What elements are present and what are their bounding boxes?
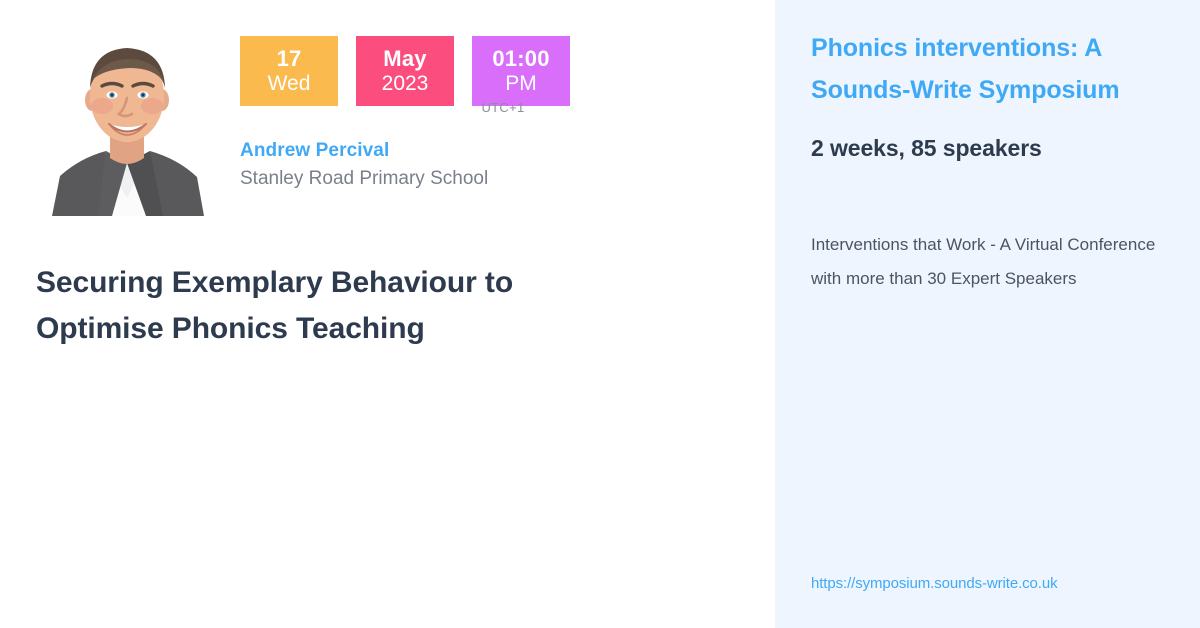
date-badge-month: May 2023: [356, 36, 454, 106]
timezone-row: UTC+1: [240, 100, 570, 115]
event-subtitle: 2 weeks, 85 speakers: [811, 135, 1170, 162]
event-description: Interventions that Work - A Virtual Conf…: [811, 228, 1170, 296]
event-url-link[interactable]: https://symposium.sounds-write.co.uk: [811, 575, 1058, 592]
event-panel: Phonics interventions: A Sounds-Write Sy…: [775, 0, 1200, 628]
speaker-name: Andrew Percival: [240, 140, 570, 162]
session-panel: 17 Wed May 2023 01:00 PM UTC+1 Andrew: [0, 0, 775, 628]
session-title: Securing Exemplary Behaviour to Optimise…: [36, 260, 596, 351]
event-title: Phonics interventions: A Sounds-Write Sy…: [811, 28, 1170, 111]
speaker-organisation: Stanley Road Primary School: [240, 168, 570, 190]
badge-month-year: 2023: [382, 73, 429, 95]
avatar-image: [34, 30, 220, 216]
badge-time-meridiem: PM: [505, 73, 537, 95]
speaker-details: 17 Wed May 2023 01:00 PM UTC+1 Andrew: [240, 30, 570, 190]
timezone-label: UTC+1: [454, 100, 552, 115]
badge-day-number: 17: [277, 47, 302, 70]
speaker-header: 17 Wed May 2023 01:00 PM UTC+1 Andrew: [34, 30, 775, 216]
speaker-avatar-photo: [34, 30, 220, 216]
date-time-badges: 17 Wed May 2023 01:00 PM: [240, 36, 570, 106]
event-promo-card: 17 Wed May 2023 01:00 PM UTC+1 Andrew: [0, 0, 1200, 628]
date-badge-day: 17 Wed: [240, 36, 338, 106]
badge-day-weekday: Wed: [268, 73, 311, 95]
date-badge-time: 01:00 PM: [472, 36, 570, 106]
badge-month-name: May: [383, 47, 426, 70]
badge-time-clock: 01:00: [492, 47, 549, 70]
